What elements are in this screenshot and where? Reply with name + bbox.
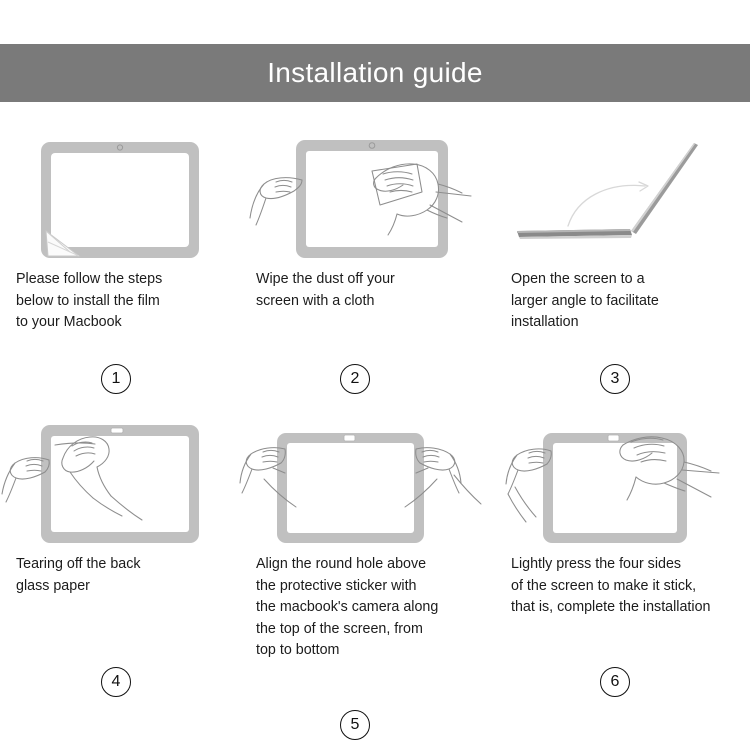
header-bar: Installation guide <box>0 44 750 102</box>
step-number-badge-4: 4 <box>101 667 131 697</box>
step-card-1: Please follow the steps below to install… <box>0 130 250 334</box>
hand-pressing-screen-flat-icon <box>495 415 745 545</box>
two-hands-aligning-film-icon <box>240 415 490 545</box>
step-card-4: Tearing off the back glass paper 4 <box>0 415 250 597</box>
laptop-opening-side-view-icon <box>495 130 745 260</box>
step-6-illustration <box>495 415 745 545</box>
step-number-badge-5: 5 <box>340 710 370 740</box>
hand-tearing-back-paper-icon <box>0 415 250 545</box>
step-number-badge-3: 3 <box>600 364 630 394</box>
step-3-illustration <box>495 130 745 260</box>
step-4-illustration <box>0 415 250 545</box>
installation-guide-page: Installation guide Please follow the ste… <box>0 0 750 750</box>
step-2-caption: Wipe the dust off your screen with a clo… <box>240 269 490 312</box>
step-number-badge-1: 1 <box>101 364 131 394</box>
step-card-2: Wipe the dust off your screen with a clo… <box>240 130 490 312</box>
step-number-badge-6: 6 <box>600 667 630 697</box>
step-card-3: Open the screen to a larger angle to fac… <box>495 130 745 334</box>
step-6-caption: Lightly press the four sides of the scre… <box>495 554 745 619</box>
page-title: Installation guide <box>267 57 483 89</box>
step-card-6: Lightly press the four sides of the scre… <box>495 415 745 619</box>
step-card-5: Align the round hole above the protectiv… <box>240 415 490 662</box>
step-1-caption: Please follow the steps below to install… <box>0 269 250 334</box>
step-5-illustration <box>240 415 490 545</box>
step-number-badge-2: 2 <box>340 364 370 394</box>
step-4-caption: Tearing off the back glass paper <box>0 554 250 597</box>
steps-grid: Please follow the steps below to install… <box>0 130 750 750</box>
step-3-caption: Open the screen to a larger angle to fac… <box>495 269 745 334</box>
hand-wiping-screen-with-cloth-icon <box>240 130 490 260</box>
step-5-caption: Align the round hole above the protectiv… <box>240 554 490 662</box>
step-2-illustration <box>240 130 490 260</box>
step-1-illustration <box>0 130 250 260</box>
tablet-with-peeling-film-corner-icon <box>0 130 250 260</box>
